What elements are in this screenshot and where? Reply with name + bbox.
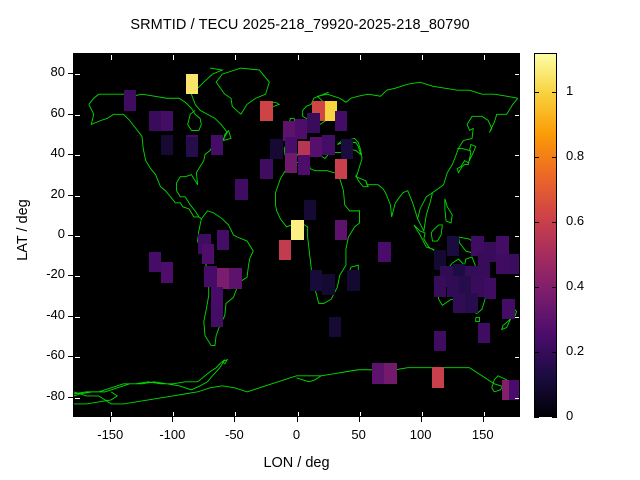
y-axis-tick-inner	[75, 196, 80, 197]
data-cell	[434, 276, 446, 296]
y-axis-tick-label: -40	[15, 307, 65, 322]
colorbar-tick	[552, 92, 557, 93]
colorbar	[534, 53, 557, 417]
x-axis-tick-label: 0	[267, 427, 327, 442]
data-cell	[229, 268, 241, 288]
data-cell	[496, 254, 508, 274]
y-axis-tick-inner	[75, 115, 80, 116]
data-cell	[235, 179, 247, 199]
y-axis-tick	[68, 114, 73, 115]
colorbar-tick	[534, 92, 539, 93]
y-axis-tick-inner	[75, 155, 80, 156]
data-cell	[304, 200, 316, 220]
y-axis-tick-label: 0	[15, 226, 65, 241]
data-cell	[260, 101, 272, 121]
data-cell	[161, 111, 173, 131]
data-cell	[211, 307, 223, 327]
data-cell	[478, 323, 490, 343]
y-axis-tick-inner	[515, 74, 520, 75]
colorbar-tick	[552, 287, 557, 288]
y-axis-tick-label: -20	[15, 266, 65, 281]
x-axis-tick-label: -150	[80, 427, 140, 442]
data-cell	[372, 363, 384, 383]
data-cell	[211, 135, 223, 155]
data-cell	[161, 262, 173, 282]
y-axis-tick-inner	[75, 236, 80, 237]
y-axis-tick	[68, 356, 73, 357]
data-cell	[496, 236, 508, 256]
data-cell	[509, 380, 520, 400]
data-cell	[384, 363, 396, 383]
data-cell	[335, 111, 347, 131]
data-cell	[310, 137, 322, 157]
x-axis-tick-inner	[360, 55, 361, 60]
data-cell	[335, 159, 347, 179]
data-cell	[149, 111, 161, 131]
x-axis-tick-inner	[235, 412, 236, 417]
x-axis-tick-label: 100	[391, 427, 451, 442]
data-cell	[447, 236, 459, 256]
y-axis-tick	[68, 275, 73, 276]
data-cell	[291, 220, 303, 240]
data-cell	[484, 278, 496, 298]
colorbar-tick	[534, 157, 539, 158]
data-cell	[322, 274, 334, 294]
data-cell	[186, 137, 198, 157]
y-axis-tick-inner	[75, 74, 80, 75]
colorbar-tick	[534, 417, 539, 418]
data-cell	[211, 287, 223, 307]
y-axis-tick-label: 20	[15, 186, 65, 201]
x-axis-tick-inner	[235, 55, 236, 60]
colorbar-tick	[552, 222, 557, 223]
colorbar-tick-label: 0.8	[566, 148, 584, 163]
map-plot-area	[73, 53, 520, 417]
y-axis-tick-inner	[515, 276, 520, 277]
y-axis-tick-inner	[515, 196, 520, 197]
y-axis-tick	[68, 235, 73, 236]
colorbar-tick	[552, 352, 557, 353]
data-cell	[347, 270, 359, 290]
data-cell	[432, 367, 444, 387]
y-axis-tick-inner	[515, 398, 520, 399]
x-axis-tick	[172, 417, 173, 422]
y-axis-tick	[68, 397, 73, 398]
colorbar-tick	[534, 222, 539, 223]
y-axis-tick-label: -80	[15, 388, 65, 403]
page-title: SRMTID / TECU 2025-218_79920-2025-218_80…	[0, 17, 600, 33]
x-axis-tick-inner	[298, 412, 299, 417]
y-axis-tick	[68, 73, 73, 74]
x-axis-tick	[110, 417, 111, 422]
data-cell	[270, 139, 282, 159]
y-axis-tick-inner	[75, 398, 80, 399]
x-axis-tick-inner	[111, 412, 112, 417]
y-axis-tick	[68, 195, 73, 196]
data-cell	[307, 113, 319, 133]
data-cell	[260, 159, 272, 179]
data-cells-layer	[74, 54, 519, 416]
x-axis-tick-label: -100	[142, 427, 202, 442]
colorbar-tick-label: 0.4	[566, 278, 584, 293]
data-cell	[295, 119, 307, 139]
x-axis-tick-label: 150	[453, 427, 513, 442]
data-cell	[341, 139, 353, 159]
x-axis-tick-inner	[484, 412, 485, 417]
y-axis-tick-inner	[515, 236, 520, 237]
x-axis-tick	[483, 417, 484, 422]
y-axis-tick-inner	[515, 357, 520, 358]
data-cell	[149, 252, 161, 272]
data-cell	[509, 254, 520, 274]
colorbar-tick-label: 0.2	[566, 343, 584, 358]
x-axis-tick-inner	[484, 55, 485, 60]
y-axis-tick-label: 60	[15, 105, 65, 120]
x-axis-tick	[234, 417, 235, 422]
data-cell	[124, 90, 136, 110]
colorbar-tick-label: 0	[566, 408, 573, 423]
data-cell	[217, 268, 229, 288]
y-axis-tick-inner	[75, 276, 80, 277]
data-cell	[335, 220, 347, 240]
data-cell	[453, 293, 465, 313]
y-axis-tick	[68, 316, 73, 317]
data-cell	[204, 266, 216, 286]
y-axis-tick-inner	[75, 357, 80, 358]
x-axis-tick	[297, 417, 298, 422]
data-cell	[161, 135, 173, 155]
colorbar-tick-label: 0.6	[566, 213, 584, 228]
data-cell	[322, 135, 334, 155]
data-cell	[285, 153, 297, 173]
y-axis-tick-label: -60	[15, 347, 65, 362]
data-cell	[186, 74, 198, 94]
y-axis-tick-inner	[515, 115, 520, 116]
data-cell	[279, 240, 291, 260]
data-cell	[202, 244, 214, 264]
y-axis-tick-label: 40	[15, 145, 65, 160]
x-axis-tick-inner	[111, 55, 112, 60]
data-cell	[329, 317, 341, 337]
x-axis-title: LON / deg	[73, 455, 520, 471]
y-axis-tick	[68, 154, 73, 155]
data-cell	[378, 242, 390, 262]
colorbar-tick	[552, 417, 557, 418]
colorbar-gradient	[535, 54, 556, 416]
colorbar-tick	[534, 287, 539, 288]
x-axis-tick-inner	[360, 412, 361, 417]
x-axis-tick-inner	[422, 412, 423, 417]
x-axis-tick-inner	[298, 55, 299, 60]
y-axis-tick-inner	[75, 317, 80, 318]
colorbar-tick	[534, 352, 539, 353]
y-axis-tick-label: 80	[15, 64, 65, 79]
x-axis-tick-inner	[422, 55, 423, 60]
x-axis-tick-label: -50	[204, 427, 264, 442]
x-axis-tick-label: 50	[329, 427, 389, 442]
data-cell	[465, 293, 477, 313]
data-cell	[298, 155, 310, 175]
data-cell	[434, 331, 446, 351]
data-cell	[310, 270, 322, 290]
x-axis-tick-inner	[173, 412, 174, 417]
plot-root: SRMTID / TECU 2025-218_79920-2025-218_80…	[0, 0, 640, 480]
colorbar-tick-label: 1	[566, 83, 573, 98]
y-axis-tick-inner	[515, 155, 520, 156]
data-cell	[217, 230, 229, 250]
y-axis-tick-inner	[515, 317, 520, 318]
data-cell	[502, 299, 514, 319]
x-axis-tick-inner	[173, 55, 174, 60]
x-axis-tick	[421, 417, 422, 422]
colorbar-tick	[552, 157, 557, 158]
x-axis-tick	[359, 417, 360, 422]
